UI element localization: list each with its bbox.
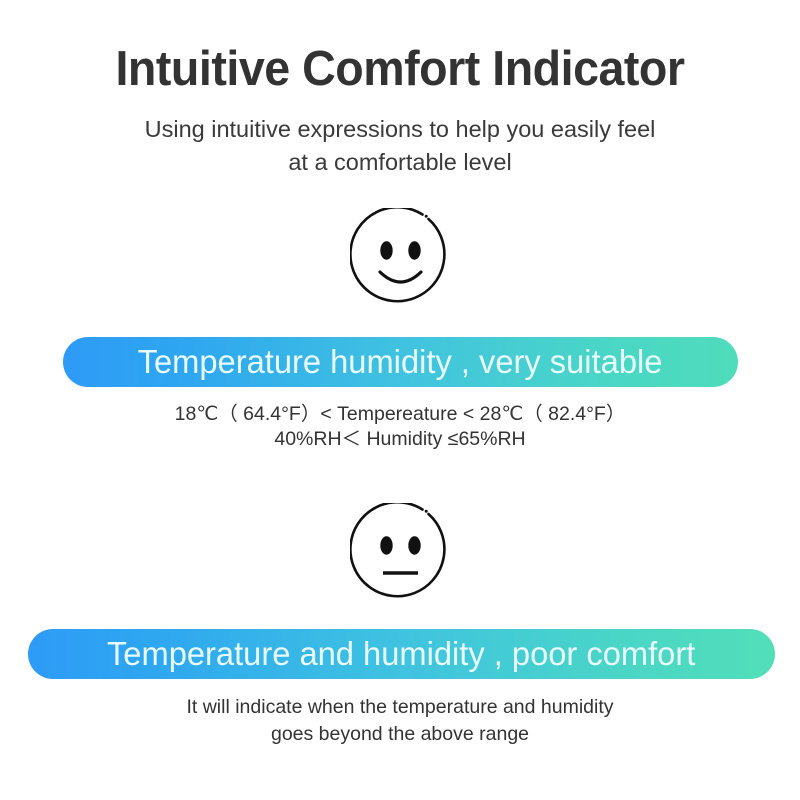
comfort-banner-suitable-label: Temperature humidity , very suitable xyxy=(138,343,663,381)
page-subtitle: Using intuitive expressions to help you … xyxy=(0,113,800,179)
comfort-banner-poor: Temperature and humidity , poor comfort xyxy=(28,629,775,679)
page-title: Intuitive Comfort Indicator xyxy=(20,40,780,98)
neutral-face-icon xyxy=(350,503,451,604)
comfort-banner-suitable: Temperature humidity , very suitable xyxy=(63,337,738,387)
comfort-range-detail: 18℃（ 64.4°F）< Tempereature < 28℃（ 82.4°F… xyxy=(0,402,800,452)
comfort-banner-poor-label: Temperature and humidity , poor comfort xyxy=(107,635,695,673)
comfort-indicator-page: Intuitive Comfort Indicator Using intuit… xyxy=(0,0,800,800)
happy-face-icon xyxy=(350,208,451,309)
poor-comfort-note: It will indicate when the temperature an… xyxy=(0,694,800,748)
